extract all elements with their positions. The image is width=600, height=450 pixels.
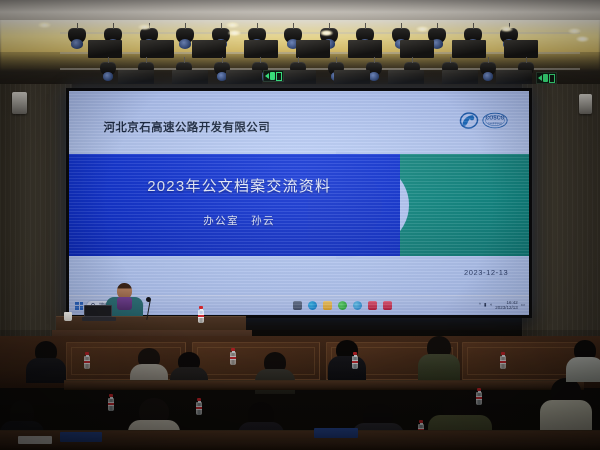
laptop-base xyxy=(82,317,116,321)
slide-author-line: 办公室 孙云 xyxy=(69,213,409,228)
clock-date: 2023/12/13 xyxy=(495,305,518,310)
exit-door-icon xyxy=(276,72,282,81)
wall-speaker-left xyxy=(12,92,27,114)
water-bottle xyxy=(198,306,204,322)
attendee xyxy=(418,336,460,380)
downlight xyxy=(568,28,581,34)
presentation-slide: 河北京石高速公路开发有限公司 COSCO SHIPPING 2023年公文档案 xyxy=(69,91,529,295)
presenter-scarf xyxy=(117,297,132,310)
cosco-wordmark-icon: COSCO SHIPPING xyxy=(482,112,508,129)
exit-sign-icon xyxy=(263,70,284,82)
water-bottle xyxy=(500,352,506,369)
stage-light-fixture xyxy=(68,28,86,50)
stage-light-fixture xyxy=(296,40,330,58)
notepad xyxy=(18,436,52,444)
laptop-lid xyxy=(84,305,112,317)
network-icon[interactable]: ▮ xyxy=(484,303,486,308)
screen-surface[interactable]: 河北京石高速公路开发有限公司 COSCO SHIPPING 2023年公文档案 xyxy=(69,91,529,315)
downlight xyxy=(38,22,51,28)
slide-date: 2023-12-13 xyxy=(464,268,508,277)
attendee xyxy=(26,341,66,381)
water-bottle xyxy=(476,388,482,405)
wall-speaker-right xyxy=(579,94,592,114)
exit-person-icon xyxy=(270,72,275,80)
water-bottle xyxy=(84,352,90,369)
wechat-icon[interactable] xyxy=(338,301,347,310)
stage-light-fixture xyxy=(348,40,382,58)
exit-arrow-icon xyxy=(265,73,269,79)
presenter-cup xyxy=(64,312,72,321)
downlight xyxy=(228,30,241,36)
downlight xyxy=(416,26,429,32)
conference-room-photo: 河北京石高速公路开发有限公司 COSCO SHIPPING 2023年公文档案 xyxy=(0,0,600,450)
downlight xyxy=(500,26,513,32)
microphone-icon xyxy=(146,297,151,302)
ceiling xyxy=(0,0,600,92)
exit-sign-icon-secondary xyxy=(536,72,557,84)
stage-light-fixture xyxy=(244,40,278,58)
tablet-device xyxy=(60,432,102,442)
stage-light-fixture xyxy=(88,40,122,58)
downlight xyxy=(576,36,589,42)
task-view-icon[interactable] xyxy=(293,301,302,310)
exit-person-icon xyxy=(543,74,548,82)
tablet-device xyxy=(314,428,358,438)
stage-light-fixture xyxy=(504,40,538,58)
exit-door-icon xyxy=(549,74,555,83)
volume-icon[interactable]: ◖ xyxy=(489,303,492,308)
stage-light-fixture xyxy=(100,62,116,82)
ceiling-slab xyxy=(0,0,600,20)
attendee xyxy=(540,378,592,430)
slide-company-name: 河北京石高速公路开发有限公司 xyxy=(104,119,271,135)
stage-light-fixture xyxy=(480,62,496,82)
taskbar-clock[interactable]: 16:42 2023/12/13 xyxy=(495,301,518,311)
notification-icon[interactable]: ▭ xyxy=(521,303,525,308)
downlight xyxy=(226,22,239,28)
attendee-masked xyxy=(566,340,600,380)
water-bottle xyxy=(196,398,202,415)
file-explorer-icon[interactable] xyxy=(323,301,332,310)
attendee xyxy=(328,340,366,378)
stage-light-fixture xyxy=(192,40,226,58)
stage-light-fixture xyxy=(400,40,434,58)
taskbar-pinned-apps[interactable] xyxy=(293,301,392,310)
qq-icon[interactable] xyxy=(353,301,362,310)
water-bottle xyxy=(230,348,236,365)
wps-presentation-icon[interactable] xyxy=(383,301,392,310)
downlight xyxy=(138,24,151,30)
edge-icon[interactable] xyxy=(308,301,317,310)
svg-text:SHIPPING: SHIPPING xyxy=(488,122,503,126)
stage-light-fixture xyxy=(452,40,486,58)
stage-light-fixture xyxy=(140,40,174,58)
slide-main-title: 2023年公文档案交流资料 xyxy=(69,175,409,196)
taskbar-system-tray[interactable]: ^ ▮ ◖ 16:42 2023/12/13 ▭ xyxy=(479,301,525,311)
water-bottle xyxy=(108,394,114,411)
presenter-laptop xyxy=(84,305,114,321)
water-bottle xyxy=(352,352,358,369)
audience-desk xyxy=(64,380,584,390)
wps-writer-icon[interactable] xyxy=(368,301,377,310)
exit-arrow-icon xyxy=(538,75,542,81)
windows-start-icon[interactable] xyxy=(75,302,83,310)
svg-text:COSCO: COSCO xyxy=(486,116,505,122)
chevron-up-icon[interactable]: ^ xyxy=(479,303,481,308)
cosco-shipping-logo: COSCO SHIPPING xyxy=(459,112,508,129)
downlight xyxy=(320,30,333,36)
cosco-mark-icon xyxy=(459,112,479,129)
